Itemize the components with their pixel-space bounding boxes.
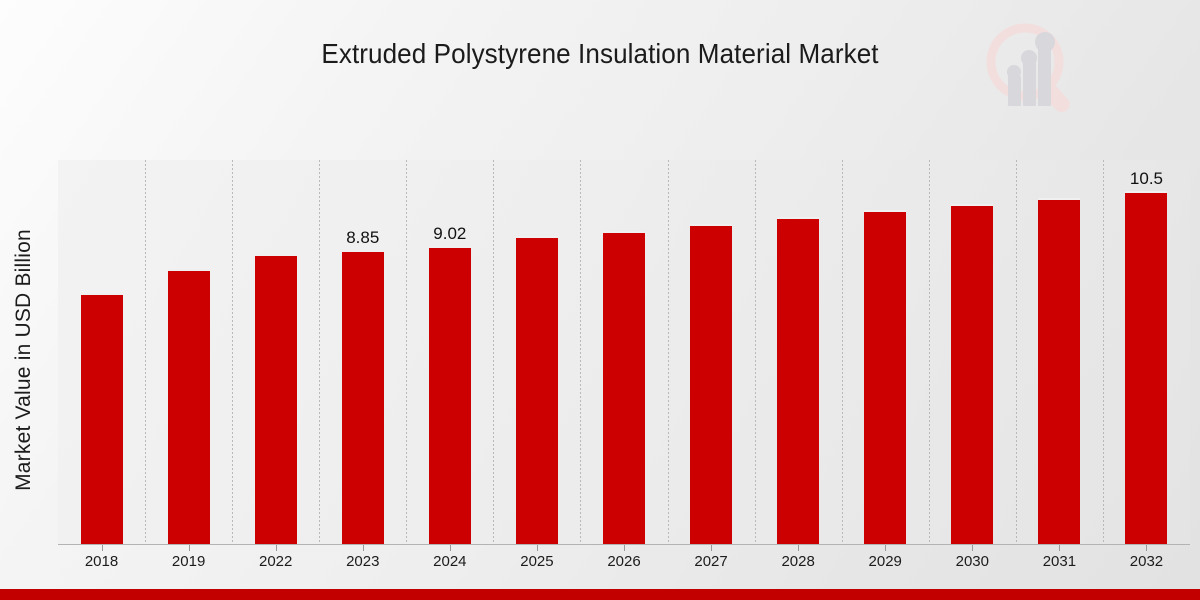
x-tick-label: 2023 bbox=[346, 553, 379, 570]
bar-slot bbox=[232, 160, 319, 544]
x-axis-tick bbox=[189, 545, 190, 551]
x-tick-label: 2028 bbox=[781, 553, 814, 570]
bar-slot bbox=[580, 160, 667, 544]
bar-slot bbox=[668, 160, 755, 544]
bars-layer: 8.859.0210.5 bbox=[58, 160, 1190, 544]
x-tick-label: 2019 bbox=[172, 553, 205, 570]
x-axis-tick bbox=[1146, 545, 1147, 551]
bar[interactable] bbox=[342, 250, 384, 544]
bar-slot bbox=[493, 160, 580, 544]
x-axis-tick bbox=[537, 545, 538, 551]
x-tick-label: 2027 bbox=[694, 553, 727, 570]
x-axis-tick bbox=[102, 545, 103, 551]
footer-band bbox=[0, 589, 1200, 600]
bar-slot bbox=[755, 160, 842, 544]
y-axis-title: Market Value in USD Billion bbox=[12, 150, 36, 570]
x-tick-label: 2029 bbox=[869, 553, 902, 570]
bar[interactable] bbox=[690, 224, 732, 544]
bar-slot bbox=[58, 160, 145, 544]
x-axis-tick bbox=[885, 545, 886, 551]
bar-slot bbox=[1016, 160, 1103, 544]
x-axis-tick bbox=[1059, 545, 1060, 551]
x-tick-label: 2018 bbox=[85, 553, 118, 570]
x-axis-tick bbox=[798, 545, 799, 551]
x-axis-tick bbox=[450, 545, 451, 551]
x-axis-tick bbox=[276, 545, 277, 551]
bar-slot: 9.02 bbox=[406, 160, 493, 544]
x-axis-tick bbox=[363, 545, 364, 551]
x-tick-label: 2030 bbox=[956, 553, 989, 570]
bar[interactable] bbox=[81, 293, 123, 544]
bar[interactable] bbox=[429, 246, 471, 544]
bar-slot bbox=[145, 160, 232, 544]
bar-value-label: 10.5 bbox=[1130, 169, 1163, 189]
bar[interactable] bbox=[516, 236, 558, 544]
bar-slot: 10.5 bbox=[1103, 160, 1190, 544]
bar-slot: 8.85 bbox=[319, 160, 406, 544]
bar[interactable] bbox=[777, 217, 819, 544]
bar[interactable] bbox=[603, 231, 645, 544]
bar[interactable] bbox=[168, 269, 210, 544]
bar-value-label: 8.85 bbox=[346, 228, 379, 248]
x-tick-label: 2024 bbox=[433, 553, 466, 570]
bar-slot bbox=[842, 160, 929, 544]
x-tick-label: 2032 bbox=[1130, 553, 1163, 570]
x-tick-label: 2031 bbox=[1043, 553, 1076, 570]
x-axis-tick bbox=[711, 545, 712, 551]
x-tick-label: 2026 bbox=[607, 553, 640, 570]
x-axis-tick bbox=[972, 545, 973, 551]
bar[interactable] bbox=[951, 204, 993, 544]
chart-title: Extruded Polystyrene Insulation Material… bbox=[42, 38, 1158, 70]
chart-figure: Extruded Polystyrene Insulation Material… bbox=[0, 0, 1200, 600]
bar[interactable] bbox=[255, 254, 297, 544]
bar-value-label: 9.02 bbox=[433, 224, 466, 244]
bar-slot bbox=[929, 160, 1016, 544]
x-tick-label: 2025 bbox=[520, 553, 553, 570]
bar[interactable] bbox=[864, 210, 906, 544]
x-axis-tick bbox=[624, 545, 625, 551]
bar[interactable] bbox=[1125, 191, 1167, 544]
x-tick-label: 2022 bbox=[259, 553, 292, 570]
bar[interactable] bbox=[1038, 198, 1080, 544]
